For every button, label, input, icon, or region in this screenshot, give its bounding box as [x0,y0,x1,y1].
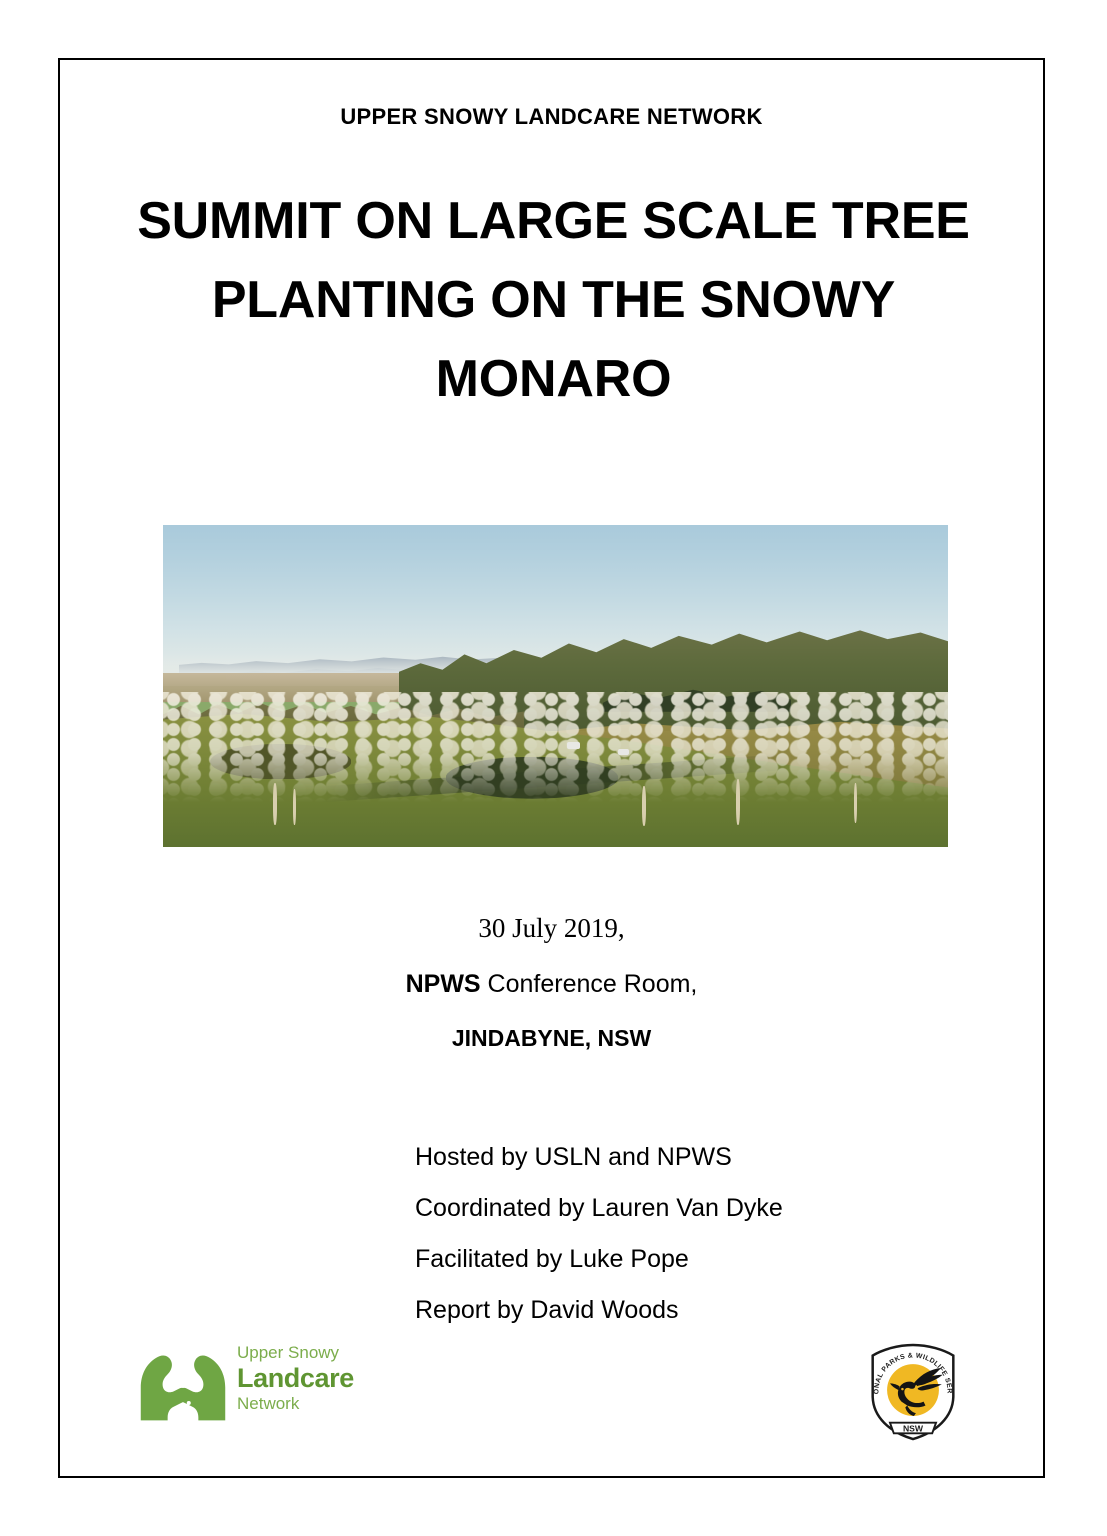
credits-block: Hosted by USLN and NPWS Coordinated by L… [415,1145,935,1349]
photo-sheep-flock [163,692,948,801]
event-date: 30 July 2019, [60,915,1043,942]
title-line-2: PLANTING ON THE SNOWY [130,261,977,340]
landcare-logo: Upper Snowy Landcare Network [135,1332,375,1432]
event-details: 30 July 2019, NPWS Conference Room, JIND… [60,915,1043,1050]
page-border: UPPER SNOWY LANDCARE NETWORK SUMMIT ON L… [58,58,1045,1478]
photo-tree-trunk [736,779,740,825]
landcare-wordmark: Upper Snowy Landcare Network [237,1344,377,1412]
event-city: JINDABYNE, NSW [60,1027,1043,1050]
event-venue: NPWS Conference Room, [60,972,1043,997]
credit-hosted: Hosted by USLN and NPWS [415,1145,935,1170]
organisation-header: UPPER SNOWY LANDCARE NETWORK [60,104,1043,130]
event-venue-org: NPWS [406,970,481,998]
photo-vehicle [618,749,629,755]
photo-tree-trunk [642,786,646,826]
landcare-line-upper-snowy: Upper Snowy [237,1344,377,1361]
page-title: SUMMIT ON LARGE SCALE TREE PLANTING ON T… [130,182,977,419]
landcare-hands-icon [135,1332,231,1428]
landcare-line-network: Network [237,1395,377,1412]
landcare-line-landcare: Landcare [237,1365,377,1392]
credit-facilitated: Facilitated by Luke Pope [415,1247,935,1272]
cover-photograph [163,525,948,847]
photo-vehicle [567,742,580,749]
photo-tree-trunk [854,783,857,823]
npws-banner-text: NSW [903,1423,924,1433]
npws-logo: NATIONAL PARKS & WILDLIFE SERVICE NSW [865,1342,961,1442]
photo-tree-trunk [293,789,296,825]
event-venue-room: Conference Room, [481,970,698,998]
title-line-1: SUMMIT ON LARGE SCALE TREE [130,182,977,261]
credit-coordinated: Coordinated by Lauren Van Dyke [415,1196,935,1221]
credit-report: Report by David Woods [415,1298,935,1323]
photo-tree-trunk [273,783,277,825]
title-line-3: MONARO [130,340,977,419]
